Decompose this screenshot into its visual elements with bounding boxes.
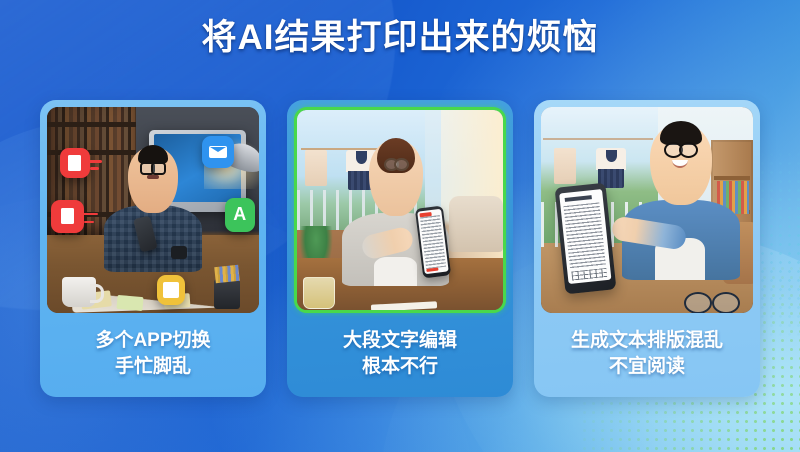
slide-root: 将AI结果打印出来的烦恼	[0, 0, 800, 452]
card-messy-layout[interactable]: 生成文本排版混乱 不宜阅读	[534, 100, 760, 397]
motion-line	[90, 167, 99, 170]
sofa	[449, 196, 503, 252]
scene-woman-reading-phone	[297, 110, 503, 310]
selection-highlight	[427, 267, 440, 272]
worried-mouth	[147, 175, 159, 180]
card-multiple-apps[interactable]: A 多个APP切换 手忙脚乱	[40, 100, 266, 397]
cards-row: A 多个APP切换 手忙脚乱	[40, 100, 760, 397]
calendar-icon	[157, 275, 185, 305]
paper-sheet	[371, 301, 437, 311]
eyeglasses-icon	[140, 162, 165, 171]
scene-man-showing-phone	[541, 107, 753, 313]
translate-icon-letter: A	[233, 204, 246, 225]
card-2-caption: 大段文字编辑 根本不行	[294, 313, 506, 380]
motion-line	[88, 160, 102, 163]
calendar-glyph	[163, 282, 179, 298]
hanging-towel	[305, 150, 327, 186]
sticky-note	[116, 295, 143, 311]
card-1-illustration: A	[47, 107, 259, 313]
motion-line	[84, 221, 94, 224]
card-3-illustration	[541, 107, 753, 313]
eyeglasses-icon	[384, 158, 409, 167]
phone-screen	[418, 209, 449, 274]
document-glyph	[68, 155, 81, 171]
card-2-caption-line1: 大段文字编辑	[294, 328, 506, 354]
smiling-mouth	[672, 160, 688, 168]
document-text-lines	[564, 203, 606, 270]
hanging-towel	[554, 148, 576, 184]
motion-line	[82, 213, 98, 216]
card-3-caption: 生成文本排版混乱 不宜阅读	[541, 313, 753, 380]
woman-head	[369, 140, 423, 216]
document-icon	[60, 148, 90, 178]
document-table	[571, 268, 607, 281]
translate-icon: A	[225, 198, 255, 232]
pencil-cup	[214, 279, 240, 309]
tea-glass	[303, 277, 335, 309]
person-young-man	[622, 119, 741, 280]
wristwatch	[171, 246, 187, 259]
man-head	[128, 147, 179, 213]
card-1-caption-line2: 手忙脚乱	[47, 354, 259, 380]
card-long-text-editing[interactable]: 大段文字编辑 根本不行	[287, 100, 513, 397]
card-1-caption: 多个APP切换 手忙脚乱	[47, 313, 259, 380]
card-1-caption-line1: 多个APP切换	[47, 328, 259, 354]
envelope-glyph	[209, 146, 227, 158]
card-3-caption-line1: 生成文本排版混乱	[541, 328, 753, 354]
document-glyph	[61, 208, 74, 224]
eyeglasses-on-table	[684, 292, 740, 312]
inner-shirt	[374, 257, 417, 286]
dense-text-lines	[420, 215, 447, 269]
scene-stressed-man: A	[47, 107, 259, 313]
person-man	[104, 144, 202, 272]
page-title: 将AI结果打印出来的烦恼	[0, 16, 800, 60]
card-2-caption-line2: 根本不行	[294, 354, 506, 380]
person-woman	[342, 134, 449, 286]
man-head	[650, 124, 712, 204]
mail-icon	[202, 136, 234, 168]
eyeglasses-icon	[664, 142, 699, 154]
card-3-caption-line2: 不宜阅读	[541, 354, 753, 380]
coffee-mug	[62, 277, 96, 307]
document-heading	[565, 195, 592, 201]
phone-screen	[559, 190, 612, 285]
document-icon	[51, 200, 84, 233]
card-2-illustration	[294, 107, 506, 313]
